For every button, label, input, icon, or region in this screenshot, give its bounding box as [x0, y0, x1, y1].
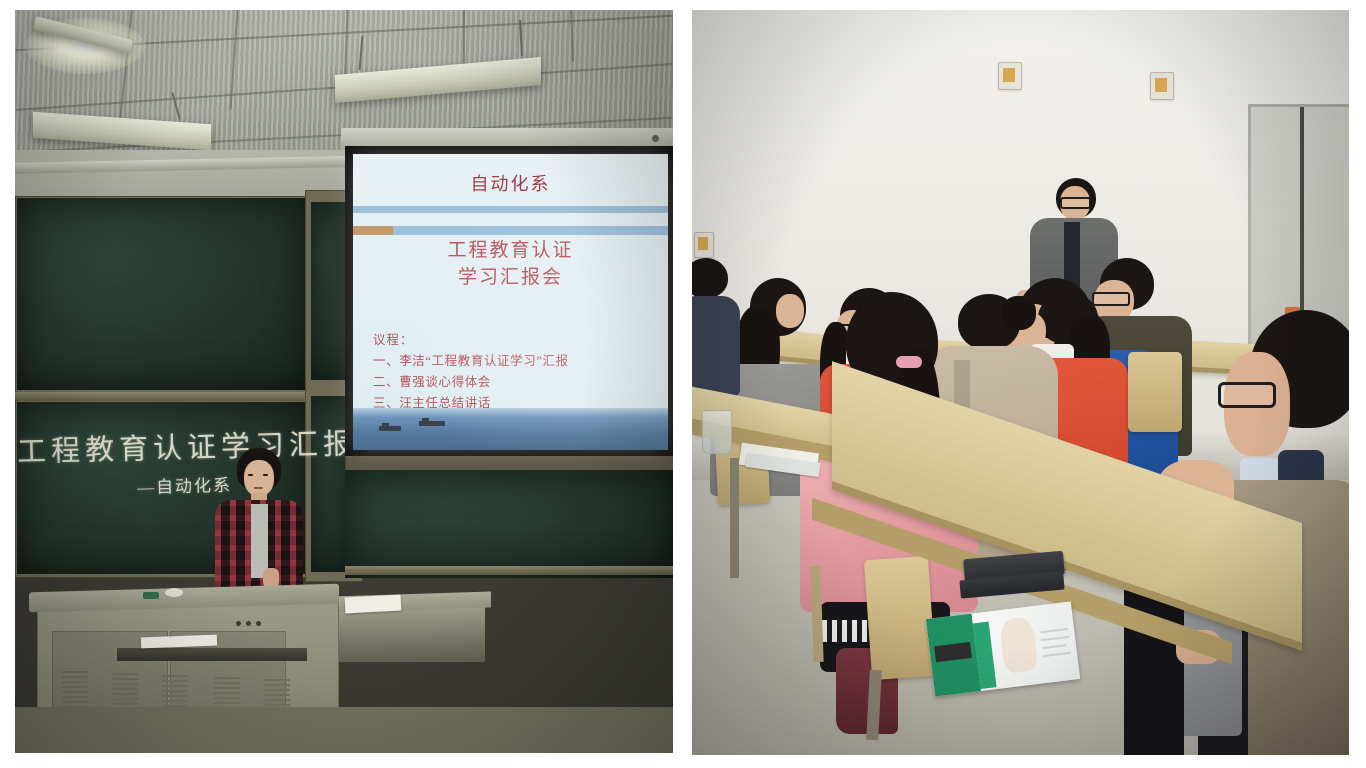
- floor: [15, 707, 673, 753]
- boat-shape: [419, 421, 445, 426]
- brochure-text-line: [1043, 652, 1071, 657]
- console-knob[interactable]: [236, 621, 241, 626]
- presenter-eye: [248, 474, 253, 476]
- screen-indicator-icon: [652, 135, 659, 142]
- glasses-icon: [1060, 197, 1091, 209]
- presenter-mouth: [254, 487, 263, 489]
- hair-bun: [1002, 296, 1036, 330]
- chalkboard-ledge: [15, 392, 311, 401]
- chair-back[interactable]: [864, 556, 936, 680]
- paper-sheet: [345, 595, 402, 614]
- slide-accent-band-top: [353, 206, 668, 213]
- lectern-keyboard-drawer[interactable]: [117, 648, 307, 661]
- chair-back[interactable]: [1128, 352, 1182, 432]
- brochure-photo: [998, 616, 1038, 674]
- slide-accent-tab: [353, 226, 393, 235]
- chalkboard-upper-left: [17, 198, 309, 390]
- hair-tie: [896, 356, 922, 368]
- console-knob[interactable]: [246, 621, 251, 626]
- right-photo-audience: [692, 10, 1349, 755]
- left-photo-lecture-room: 工程教育认证学习汇报会 —自动化系 自动化系 工程教育认证 学习汇报会 议程： …: [15, 10, 673, 753]
- composite-photo-canvas: 工程教育认证学习汇报会 —自动化系 自动化系 工程教育认证 学习汇报会 议程： …: [0, 0, 1366, 768]
- presenter-inner-shirt: [251, 504, 268, 578]
- brochure-text-line: [1040, 628, 1068, 633]
- drinking-glass: [702, 410, 732, 454]
- slide-title-line-2: 学习汇报会: [353, 265, 668, 292]
- presenter-eye: [263, 474, 268, 476]
- mouse-device[interactable]: [165, 588, 183, 597]
- presenter-face: [244, 460, 274, 496]
- agenda-heading: 议程：: [373, 330, 569, 351]
- dark-jacket: [692, 296, 740, 396]
- student-back-left: [692, 258, 748, 398]
- slide-title-line-1: 工程教育认证: [353, 238, 668, 265]
- agenda-item: 二、曹强谈心得体会: [373, 372, 569, 393]
- slide-footer-sea-image: [353, 408, 668, 450]
- slide-agenda: 议程： 一、李洁“工程教育认证学习”汇报 二、曹强谈心得体会 三、汪主任总结讲话: [373, 330, 569, 414]
- boat-shape: [379, 426, 401, 431]
- brochure-text-line: [1042, 644, 1066, 649]
- chalkboard-ledge-right: [345, 566, 673, 575]
- brochure-text-line: [1041, 636, 1069, 641]
- wall-socket[interactable]: [1150, 72, 1174, 100]
- slide-title-block: 工程教育认证 学习汇报会: [353, 238, 668, 292]
- wall-socket[interactable]: [998, 62, 1022, 90]
- slide-header: 自动化系: [353, 170, 668, 196]
- agenda-item: 一、李洁“工程教育认证学习”汇报: [373, 351, 569, 372]
- chalkboard-lower-right: [345, 470, 673, 578]
- slide-accent-band-second: [393, 226, 668, 235]
- small-green-device: [143, 592, 159, 599]
- head-hair: [692, 258, 728, 298]
- desk-leg: [730, 458, 739, 578]
- glasses-icon: [1218, 382, 1276, 408]
- wall-socket[interactable]: [694, 232, 714, 258]
- console-knob[interactable]: [256, 621, 261, 626]
- presentation-slide: 自动化系 工程教育认证 学习汇报会 议程： 一、李洁“工程教育认证学习”汇报 二…: [353, 154, 668, 450]
